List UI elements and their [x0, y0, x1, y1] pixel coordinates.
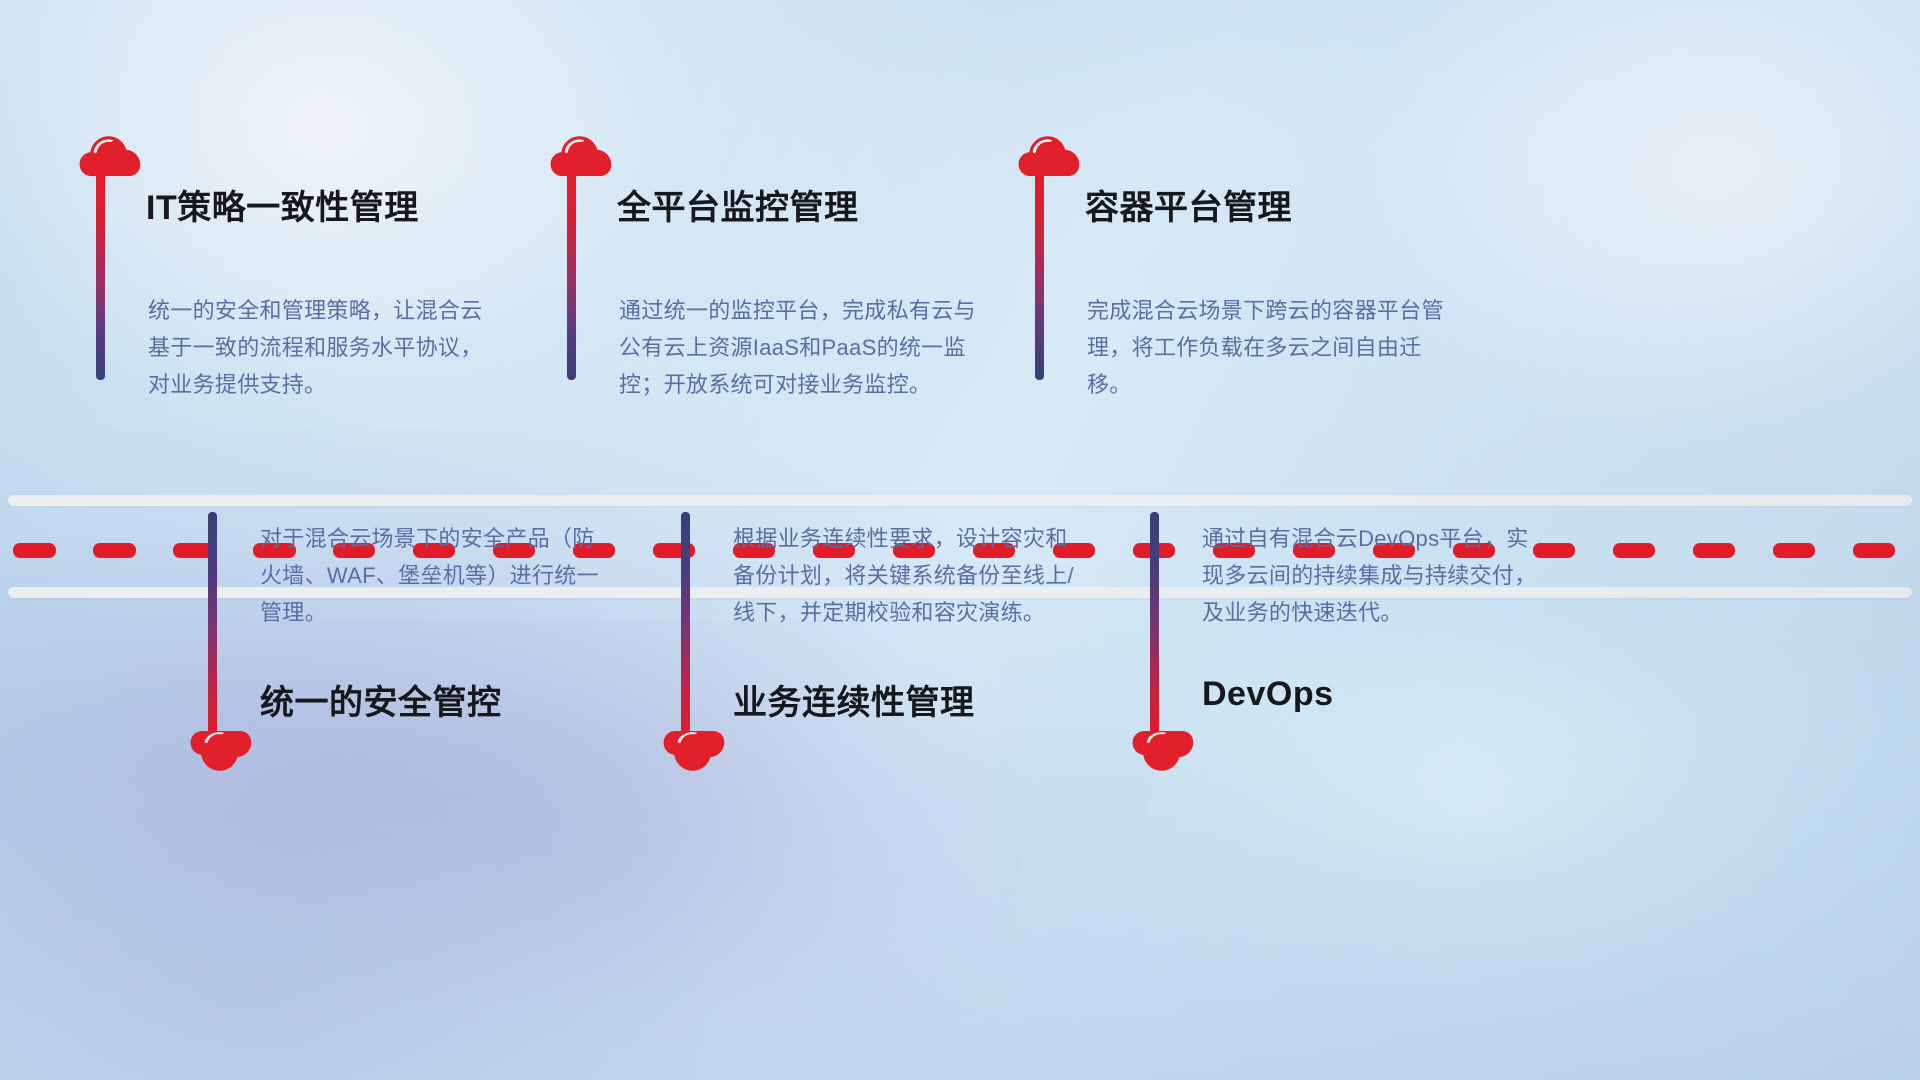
feature-description: 通过统一的监控平台，完成私有云与公有云上资源IaaS和PaaS的统一监控；开放系… — [619, 292, 981, 403]
cloud-icon — [79, 133, 141, 177]
feature-title: 业务连续性管理 — [733, 675, 975, 724]
cloud-icon — [1132, 730, 1194, 774]
feature-title: 统一的安全管控 — [260, 675, 502, 724]
dash-segment — [1853, 543, 1895, 558]
white-band-top — [8, 495, 1912, 506]
cloud-icon — [663, 730, 725, 774]
feature-description: 根据业务连续性要求，设计容灾和备份计划，将关键系统备份至线上/线下，并定期校验和… — [733, 520, 1078, 631]
cloud-icon — [190, 730, 252, 774]
connector-stem — [1150, 512, 1159, 737]
feature-description: 统一的安全和管理策略，让混合云基于一致的流程和服务水平协议，对业务提供支持。 — [148, 292, 500, 403]
cloud-icon — [550, 133, 612, 177]
feature-description: 完成混合云场景下跨云的容器平台管理，将工作负载在多云之间自由迁移。 — [1087, 292, 1449, 403]
cloud-icon — [1018, 133, 1080, 177]
feature-description: 通过自有混合云DevOps平台，实现多云间的持续集成与持续交付，及业务的快速迭代… — [1202, 520, 1547, 631]
feature-title: 容器平台管理 — [1085, 180, 1292, 229]
connector-stem — [96, 172, 105, 380]
dash-segment — [93, 543, 135, 558]
dash-segment — [1613, 543, 1655, 558]
connector-stem — [681, 512, 690, 737]
dash-segment — [1773, 543, 1815, 558]
infographic-canvas: IT策略一致性管理 统一的安全和管理策略，让混合云基于一致的流程和服务水平协议，… — [0, 0, 1920, 1080]
connector-stem — [567, 172, 576, 380]
connector-stem — [1035, 172, 1044, 380]
feature-title: 全平台监控管理 — [617, 180, 859, 229]
dash-segment — [13, 543, 55, 558]
feature-title: IT策略一致性管理 — [146, 180, 419, 229]
feature-description: 对于混合云场景下的安全产品（防火墙、WAF、堡垒机等）进行统一管理。 — [260, 520, 600, 631]
dash-segment — [1693, 543, 1735, 558]
feature-title: DevOps — [1202, 675, 1334, 714]
connector-stem — [208, 512, 217, 737]
